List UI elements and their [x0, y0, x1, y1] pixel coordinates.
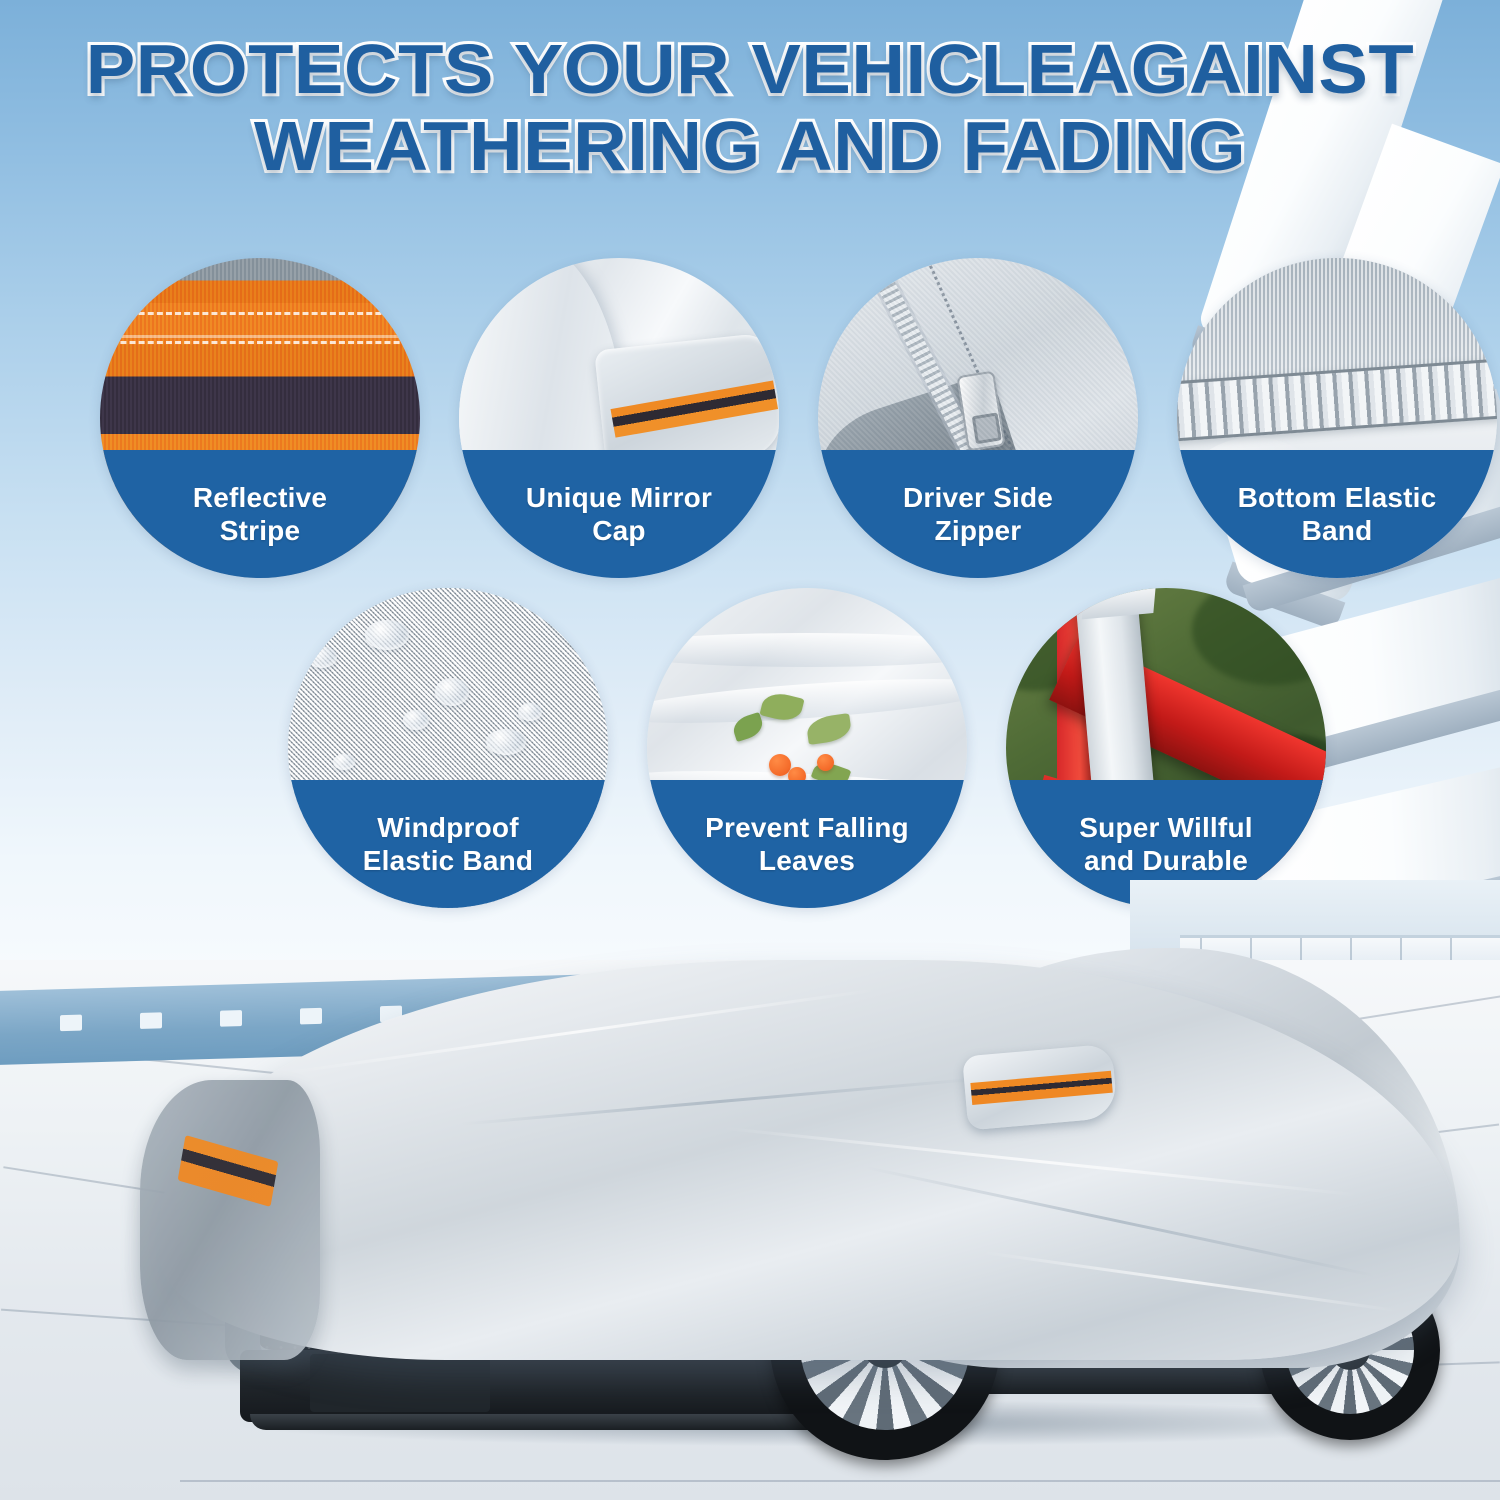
- cover-front-flap: [140, 1080, 320, 1360]
- cover-mirror-pocket: [962, 1044, 1118, 1131]
- feature-card-unique-mirror-cap[interactable]: Unique MirrorCap: [459, 258, 779, 578]
- feature-card-windproof-elastic-band[interactable]: WindproofElastic Band: [288, 588, 608, 908]
- car-license-plate-recess: [310, 1354, 490, 1412]
- feature-card-prevent-falling-leaves[interactable]: Prevent FallingLeaves: [647, 588, 967, 908]
- feature-label-prevent-falling-leaves: Prevent FallingLeaves: [647, 780, 967, 908]
- feature-card-reflective-stripe[interactable]: ReflectiveStripe: [100, 258, 420, 578]
- zipper-pull-icon: [956, 371, 1005, 452]
- feature-card-bottom-elastic-band[interactable]: Bottom ElasticBand: [1177, 258, 1497, 578]
- hero-car-with-cover: [120, 930, 1480, 1470]
- mirror-pocket-reflective-stripe: [970, 1070, 1112, 1104]
- feature-label-windproof-elastic-band: WindproofElastic Band: [288, 780, 608, 908]
- feature-label-bottom-elastic-band: Bottom ElasticBand: [1177, 450, 1497, 578]
- feature-label-driver-side-zipper: Driver SideZipper: [818, 450, 1138, 578]
- feature-card-super-willful-and-durable[interactable]: Super Willfuland Durable: [1006, 588, 1326, 908]
- feature-card-driver-side-zipper[interactable]: Driver SideZipper: [818, 258, 1138, 578]
- feature-grid: ReflectiveStripe Unique MirrorCap Driver…: [0, 0, 1500, 950]
- feature-label-reflective-stripe: ReflectiveStripe: [100, 450, 420, 578]
- feature-label-unique-mirror-cap: Unique MirrorCap: [459, 450, 779, 578]
- product-marketing-image: PROTECTS YOUR VEHICLEAGAINST WEATHERING …: [0, 0, 1500, 1500]
